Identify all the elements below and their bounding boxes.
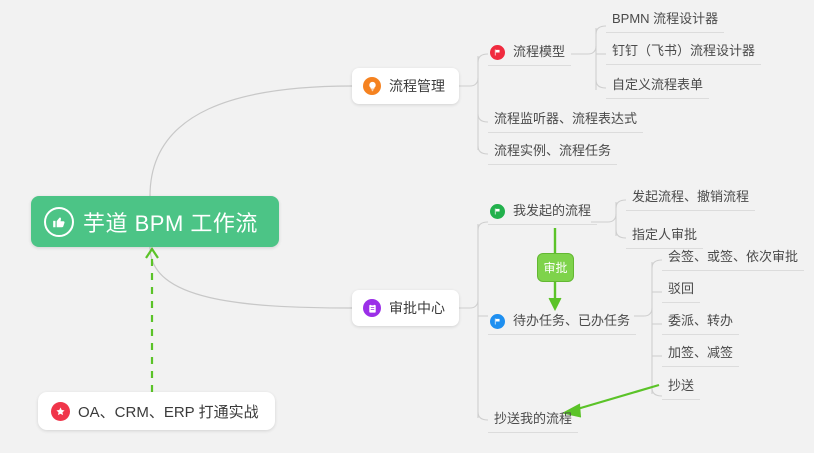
leaf-add-remove-sign[interactable]: 加签、减签 [662,345,739,367]
edge-model-to-trunk [588,46,596,54]
edge-started-branch-1 [616,200,626,208]
thumbs-up-icon [44,207,74,237]
leaf-instance-task[interactable]: 流程实例、流程任务 [488,143,617,165]
edge-started-to-trunk [608,214,616,222]
node-todo-done-tasks[interactable]: 待办任务、已办任务 [488,313,636,335]
approval-badge-label: 审批 [543,259,567,276]
edge-ac-branch-cc [478,412,488,420]
leaf-label: 发起流程、撤销流程 [632,189,749,204]
leaf-label: 钉钉（飞书）流程设计器 [612,43,755,58]
flag-icon [490,314,505,329]
edge-model-branch-3 [596,80,606,88]
node-label: OA、CRM、ERP 打通实战 [78,401,259,422]
edge-started-branch-2 [616,230,626,238]
leaf-label: BPMN 流程设计器 [612,11,718,26]
leaf-label: 指定人审批 [632,227,697,242]
edge-root-to-process-management [150,86,352,196]
leaf-label: 会签、或签、依次审批 [668,249,798,264]
leaf-label: 驳回 [668,281,694,296]
node-process-model[interactable]: 流程模型 [488,44,571,66]
node-my-started-processes[interactable]: 我发起的流程 [488,203,597,225]
node-label: 审批中心 [389,298,445,318]
leaf-label: 委派、转办 [668,313,733,328]
node-label: 流程模型 [513,44,565,60]
flag-icon [490,45,505,60]
star-icon [51,402,70,421]
leaf-reject[interactable]: 驳回 [662,281,700,303]
edge-root-to-approval-center [150,247,352,308]
edge-todo-branch-5 [652,388,662,396]
leaf-custom-form[interactable]: 自定义流程表单 [606,77,709,99]
node-process-management[interactable]: 流程管理 [352,68,459,104]
leaf-label: 自定义流程表单 [612,77,703,92]
node-integration-note[interactable]: OA、CRM、ERP 打通实战 [38,392,275,430]
edge-todo-to-trunk [644,308,652,316]
edge-ac-to-trunk [470,300,478,308]
leaf-bpmn-designer[interactable]: BPMN 流程设计器 [606,11,724,33]
leaf-label: 流程实例、流程任务 [494,143,611,158]
leaf-delegate-transfer[interactable]: 委派、转办 [662,313,739,335]
leaf-cc[interactable]: 抄送 [662,378,700,400]
edge-model-branch-1 [596,26,606,34]
arrow-note-to-root [146,249,158,392]
node-approval-center[interactable]: 审批中心 [352,290,459,326]
leaf-label: 流程监听器、流程表达式 [494,111,637,126]
leaf-label: 抄送 [668,378,694,393]
leaf-label: 加签、减签 [668,345,733,360]
lightbulb-icon [363,77,381,95]
edge-pm-to-model [470,78,478,86]
node-label: 流程管理 [389,76,445,96]
approval-badge[interactable]: 审批 [537,253,574,282]
clipboard-icon [363,299,381,317]
node-label: 待办任务、已办任务 [513,313,630,329]
mindmap-canvas: 芋道 BPM 工作流 流程管理 流程模型 BPMN 流程设计器 钉钉（飞书）流程… [0,0,814,453]
leaf-dingtalk-designer[interactable]: 钉钉（飞书）流程设计器 [606,43,761,65]
edge-pm-branch-model [478,54,488,62]
leaf-listener-expression[interactable]: 流程监听器、流程表达式 [488,111,643,133]
root-node[interactable]: 芋道 BPM 工作流 [31,196,279,247]
leaf-assigned-approval[interactable]: 指定人审批 [626,227,703,249]
leaf-label: 抄送我的流程 [494,411,572,426]
edge-todo-branch-1 [652,260,662,268]
edge-pm-branch-listener [478,114,488,122]
node-label: 我发起的流程 [513,203,591,219]
edge-ac-branch-started [478,222,488,230]
root-label: 芋道 BPM 工作流 [83,206,258,238]
leaf-countersign[interactable]: 会签、或签、依次审批 [662,249,804,271]
leaf-cc-to-me[interactable]: 抄送我的流程 [488,411,578,433]
flag-icon [490,204,505,219]
edge-pm-branch-instance [478,146,488,154]
leaf-start-cancel-process[interactable]: 发起流程、撤销流程 [626,189,755,211]
